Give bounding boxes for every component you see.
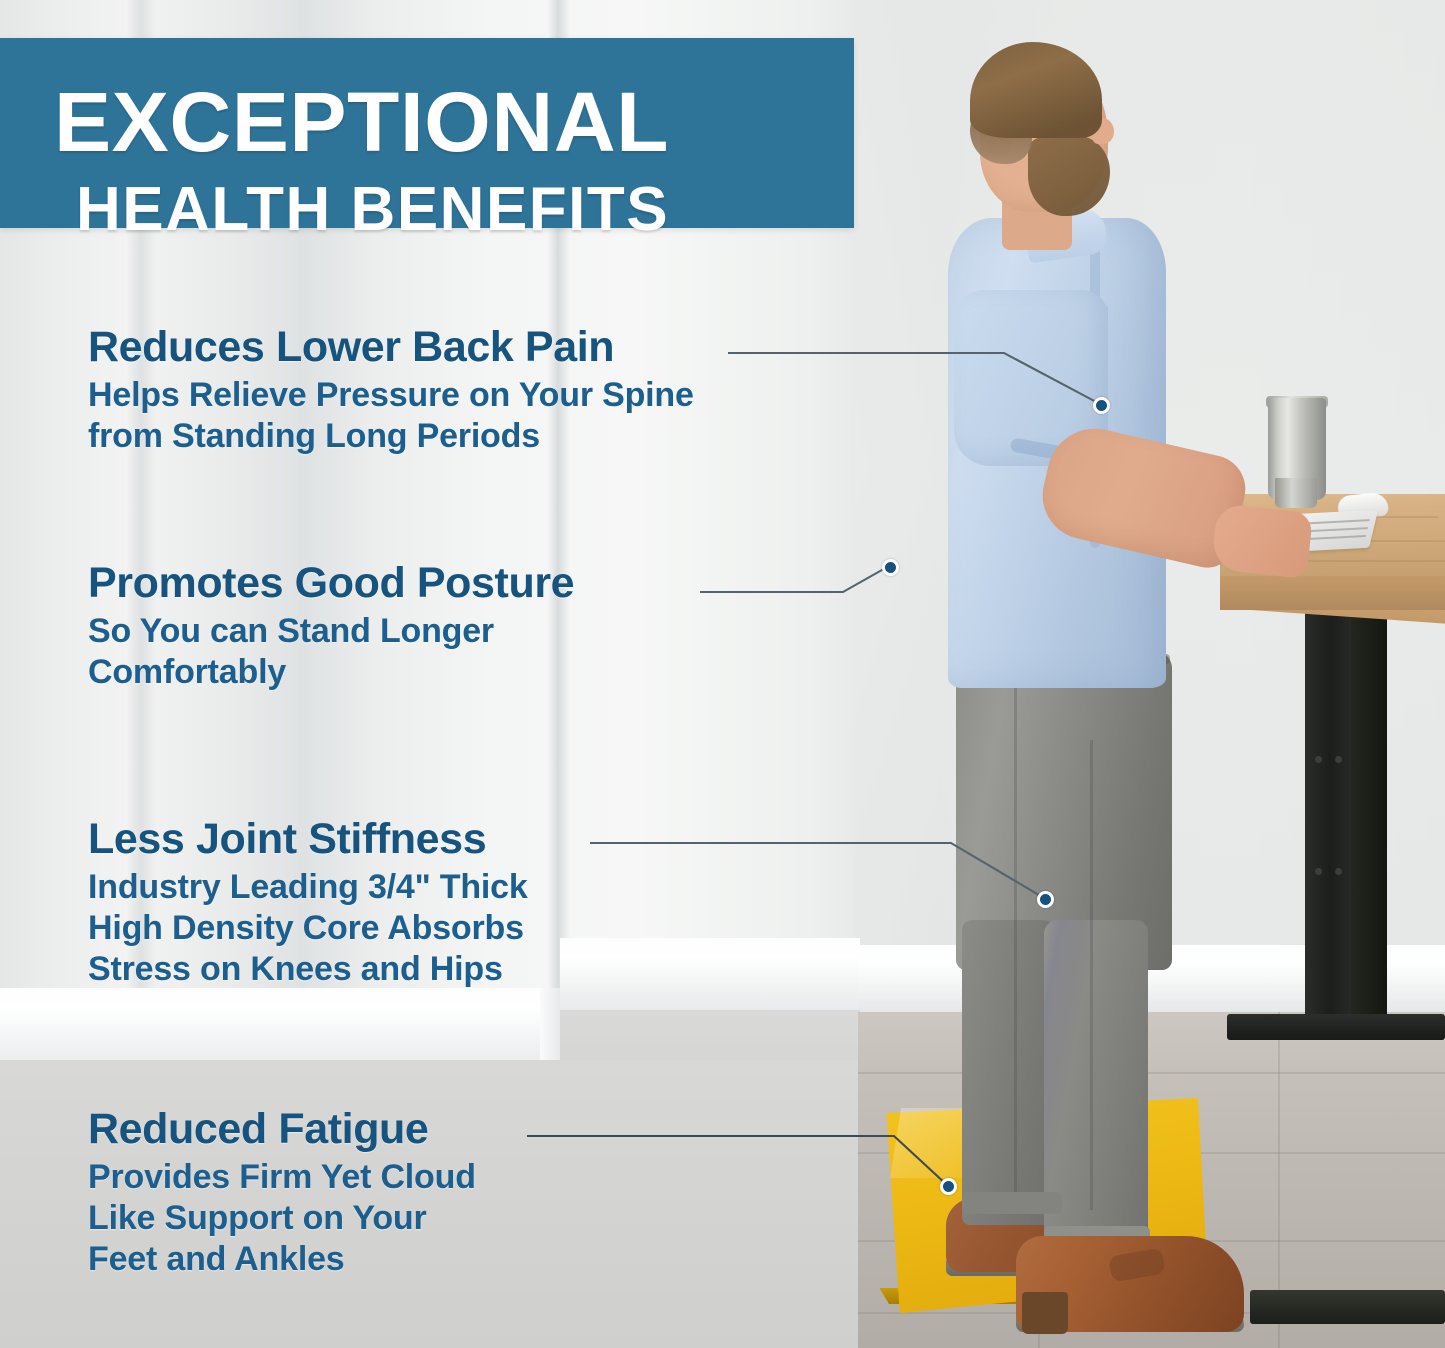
banner-title-line2: HEALTH BENEFITS	[76, 180, 669, 240]
shoe-heel	[1022, 1292, 1068, 1334]
callout-dot-knee	[1037, 891, 1054, 908]
hand-on-keyboard	[1211, 503, 1313, 579]
desk-leg-column-outer	[1305, 606, 1351, 1020]
benefit-block-reduced-fatigue: Reduced Fatigue Provides Firm Yet Cloud …	[88, 1108, 476, 1279]
baseboard-middle	[560, 938, 860, 1016]
banner-title-line1: EXCEPTIONAL	[54, 82, 669, 163]
benefit-line: Provides Firm Yet Cloud	[88, 1157, 476, 1198]
infographic-canvas: EXCEPTIONAL HEALTH BENEFITS Reduces Lowe…	[0, 0, 1445, 1348]
benefit-block-promotes-good-posture: Promotes Good Posture So You can Stand L…	[88, 562, 574, 693]
benefit-line: Industry Leading 3/4" Thick	[88, 867, 528, 908]
callout-dot-back	[1093, 397, 1110, 414]
benefit-title: Reduces Lower Back Pain	[88, 326, 694, 369]
beard	[1028, 136, 1110, 216]
benefit-title: Promotes Good Posture	[88, 562, 574, 605]
benefit-block-less-joint-stiffness: Less Joint Stiffness Industry Leading 3/…	[88, 818, 528, 989]
trouser-cuff-rear	[962, 1192, 1062, 1214]
benefit-line: Helps Relieve Pressure on Your Spine	[88, 375, 694, 416]
tumbler-base	[1275, 478, 1317, 508]
benefit-line: from Standing Long Periods	[88, 416, 694, 457]
benefit-line: Like Support on Your	[88, 1198, 476, 1239]
person-standing	[940, 40, 1270, 1340]
benefit-line: Comfortably	[88, 652, 574, 693]
desk-leg-column-inner	[1351, 606, 1387, 1020]
callout-dot-hip	[882, 559, 899, 576]
benefit-title: Less Joint Stiffness	[88, 818, 528, 861]
benefit-line: Feet and Ankles	[88, 1239, 476, 1280]
hair	[970, 42, 1102, 138]
benefit-title: Reduced Fatigue	[88, 1108, 476, 1151]
benefit-line: So You can Stand Longer	[88, 611, 574, 652]
desk-foot-front	[1250, 1290, 1445, 1324]
benefit-block-reduces-lower-back-pain: Reduces Lower Back Pain Helps Relieve Pr…	[88, 326, 694, 457]
callout-dot-mat	[940, 1178, 957, 1195]
benefit-line: High Density Core Absorbs	[88, 908, 528, 949]
header-banner: EXCEPTIONAL HEALTH BENEFITS	[0, 38, 854, 228]
benefit-line: Stress on Knees and Hips	[88, 949, 528, 990]
